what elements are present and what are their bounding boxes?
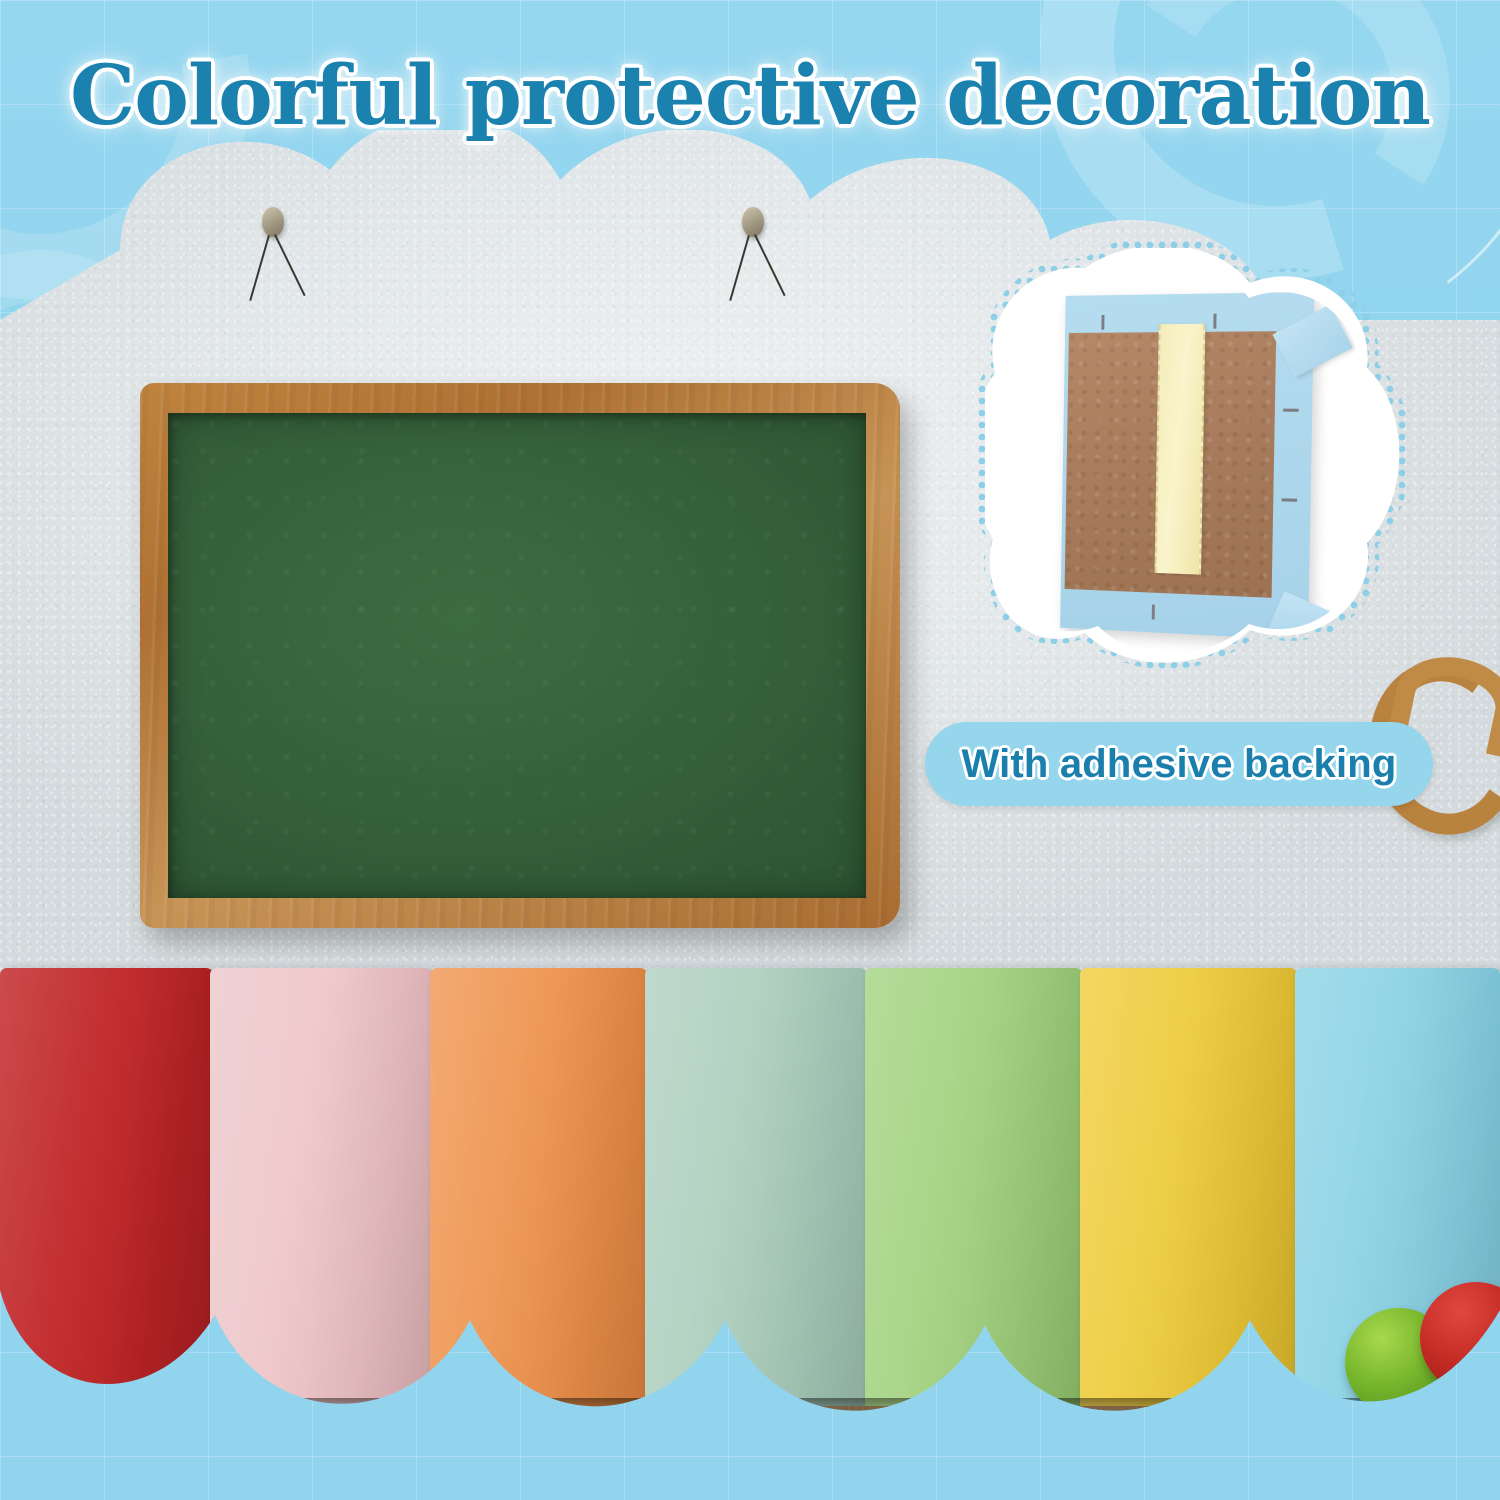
color-panel-pink[interactable] xyxy=(210,968,432,1408)
nail-icon xyxy=(262,207,284,237)
page-title: Colorful protective decoration xyxy=(0,48,1500,144)
chalkboard xyxy=(140,383,900,928)
adhesive-strip xyxy=(1154,324,1205,575)
staple-icon xyxy=(1152,605,1155,620)
adhesive-backing-inset xyxy=(985,248,1405,673)
status-badge: With adhesive backing xyxy=(925,722,1433,806)
badge-label: With adhesive backing xyxy=(961,742,1396,787)
nail-icon xyxy=(742,207,764,237)
chalkboard-surface xyxy=(168,413,866,898)
staple-icon xyxy=(1101,315,1104,330)
staple-icon xyxy=(1282,498,1298,501)
color-panel-yellow[interactable] xyxy=(1080,968,1297,1408)
inset-photo xyxy=(999,266,1391,658)
staple-icon xyxy=(1213,314,1216,329)
promo-image: Colorful protective decoration With adhe… xyxy=(0,0,1500,1500)
color-panel-light-green[interactable] xyxy=(865,968,1082,1408)
panel-reverse-side xyxy=(1060,292,1314,641)
color-panel-red[interactable] xyxy=(0,968,213,1408)
staple-icon xyxy=(1283,409,1299,412)
color-panel-mint-green[interactable] xyxy=(645,968,867,1408)
